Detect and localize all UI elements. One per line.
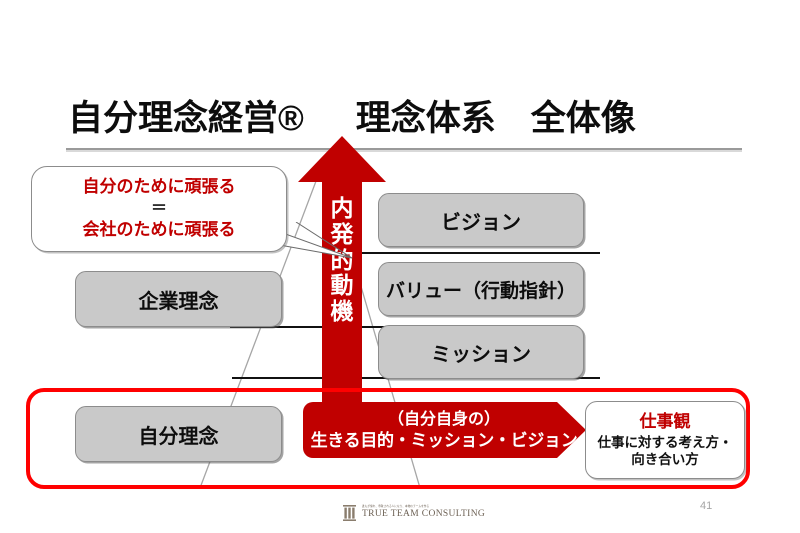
- arrow-char-4: 動: [331, 273, 354, 299]
- box-vision: ビジョン: [378, 193, 584, 247]
- callout-left-line-3: 会社のために頑張る: [83, 219, 236, 242]
- callout-work-view-heading: 仕事観: [640, 411, 691, 433]
- box-vision-label: ビジョン: [441, 206, 521, 235]
- box-mission: ミッション: [378, 325, 584, 379]
- callout-work-view-line-2: 向き合い方: [631, 451, 699, 469]
- box-value-label: バリュー（行動指針）: [386, 276, 576, 303]
- footer-logo: 誰もが憧れ、尊敬される人になり、本物のチームを作る TRUE TEAM CONS…: [343, 501, 473, 525]
- box-mission-label: ミッション: [431, 338, 531, 367]
- arrow-char-5: 機: [331, 299, 354, 325]
- footer-logo-name: TRUE TEAM CONSULTING: [362, 509, 485, 519]
- pillar-logo-icon: [343, 505, 356, 521]
- slide-canvas: 自分理念経営® 理念体系 全体像 内 発 的 動 機 自分のために頑張る ＝ 会…: [0, 0, 800, 533]
- callout-work-view: 仕事観 仕事に対する考え方・ 向き合い方: [585, 401, 745, 479]
- title-main-text: 自分理念経営®: [68, 101, 304, 136]
- box-corporate-philosophy: 企業理念: [75, 271, 282, 327]
- arrow-char-1: 内: [331, 196, 354, 222]
- callout-left-line-2: ＝: [151, 199, 167, 218]
- life-purpose-banner: [303, 402, 586, 458]
- box-value: バリュー（行動指針）: [378, 262, 584, 316]
- callout-left-line-1: 自分のために頑張る: [83, 176, 236, 199]
- title-sub-text: 理念体系 全体像: [356, 101, 636, 136]
- callout-work-view-line-1: 仕事に対する考え方・: [598, 434, 733, 452]
- box-corporate-philosophy-label: 企業理念: [139, 285, 219, 314]
- page-number: 41: [700, 500, 740, 512]
- title-underline-rule: [66, 148, 742, 152]
- callout-self-equals-company: 自分のために頑張る ＝ 会社のために頑張る: [31, 166, 287, 252]
- page-title: 自分理念経営® 理念体系 全体像: [68, 92, 738, 144]
